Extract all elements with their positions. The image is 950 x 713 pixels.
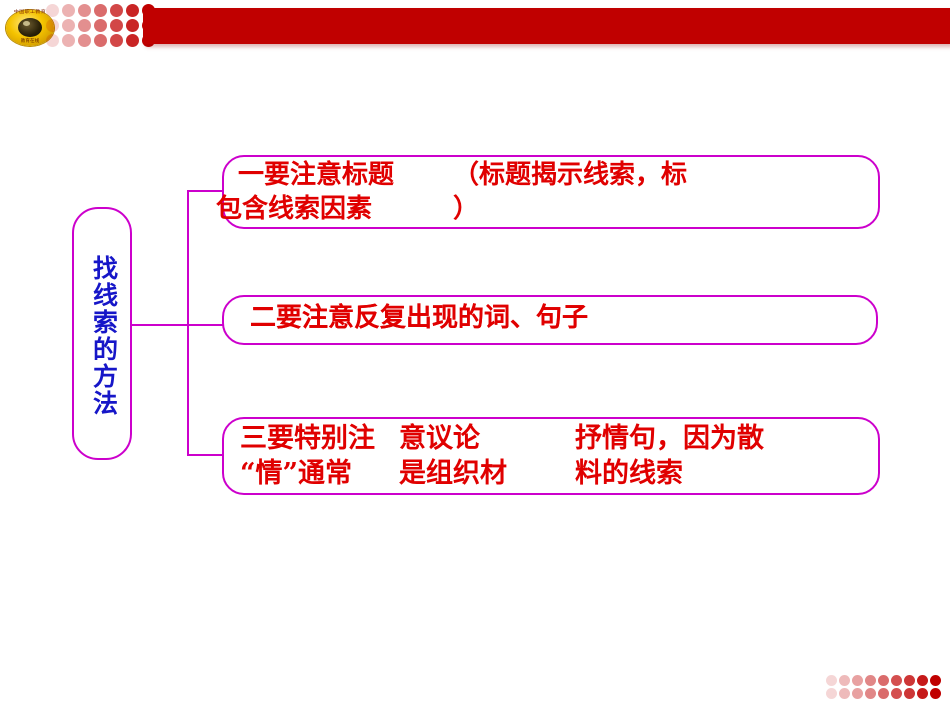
branch-1-text-line-1: 一要注意标题 [238,160,394,192]
branch-1-text-line-4: ） [453,194,479,226]
connector-branch-1 [187,190,223,192]
decorative-dot [852,688,863,699]
decorative-dot [878,688,889,699]
branch-3-text-line-6: 料的线索 [575,458,683,491]
decorative-dot [839,675,850,686]
decorative-dot [930,688,941,699]
connector-branch-3 [187,454,223,456]
dot-row [826,688,943,699]
decorative-dot [878,675,889,686]
decorative-dot [839,688,850,699]
decorative-dot [904,675,915,686]
decorative-dot [852,675,863,686]
mindmap-diagram: 找线索的方法 一要注意标题 包含线索因素 （标题揭示线索，标 ） 二要注意反复出… [0,0,950,713]
branch-3-text-line-3: 意议论 [399,423,480,456]
connector-branch-2 [187,324,223,326]
decorative-dot [917,688,928,699]
footer-dot-grid [826,675,943,701]
decorative-dot [891,688,902,699]
slide-canvas: 中国职工教育 教育在线 找线索的方法 一要注意标题 包含线索因素 （标题揭示线索… [0,0,950,713]
root-node-label: 找线索的方法 [74,209,134,462]
branch-1-text-line-3: （标题揭示线索，标 [453,160,687,192]
branch-3-text-line-4: 是组织材 [399,458,507,491]
branch-1-text-line-2: 包含线索因素 [216,194,372,226]
branch-2-text-line-2: 二要注意反复出现的词、句子 [250,303,588,335]
connector-trunk [132,324,189,326]
root-node-box[interactable]: 找线索的方法 [72,207,132,460]
decorative-dot [930,675,941,686]
decorative-dot [891,675,902,686]
branch-3-text-line-5: 抒情句，因为散 [575,423,764,456]
decorative-dot [826,688,837,699]
decorative-dot [917,675,928,686]
branch-3-text-line-1: 三要特别注 [240,423,375,456]
decorative-dot [826,675,837,686]
dot-row [826,675,943,686]
decorative-dot [865,688,876,699]
decorative-dot [865,675,876,686]
branch-3-text-line-2: “情”通常 [240,458,352,491]
decorative-dot [904,688,915,699]
connector-spine [187,190,189,456]
